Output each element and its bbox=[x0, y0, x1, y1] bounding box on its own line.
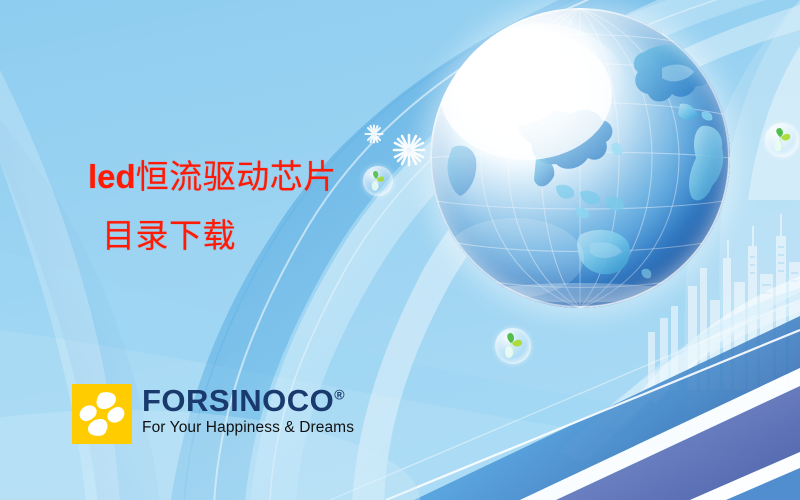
headline-text: led恒流驱动芯片 目录下载 bbox=[88, 160, 418, 254]
logo-mark-box bbox=[72, 384, 132, 444]
earth-globe bbox=[430, 8, 730, 308]
green-sprout-icon bbox=[765, 123, 799, 157]
logo-tagline: For Your Happiness & Dreams bbox=[142, 420, 354, 436]
bubble-sprout-mid bbox=[495, 328, 531, 364]
registered-trademark-icon: ® bbox=[334, 387, 345, 403]
logo-wordmark-text: FORSINOCO bbox=[142, 383, 334, 418]
green-sprout-icon bbox=[495, 328, 531, 364]
headline-line-2: 目录下载 bbox=[88, 221, 418, 254]
company-logo[interactable]: FORSINOCO® For Your Happiness & Dreams bbox=[72, 384, 354, 444]
four-petal-flower-icon bbox=[72, 384, 132, 444]
logo-text-block: FORSINOCO® For Your Happiness & Dreams bbox=[142, 384, 354, 436]
promotional-banner: led恒流驱动芯片 目录下载 FORSINOCO® For Your Happ bbox=[0, 0, 800, 500]
globe-surface bbox=[430, 8, 730, 308]
logo-wordmark: FORSINOCO® bbox=[142, 385, 354, 416]
headline-cjk-line-1: 恒流驱动芯片 bbox=[136, 160, 337, 196]
headline-line-1: led恒流驱动芯片 bbox=[88, 160, 418, 195]
bubble-sprout-right bbox=[765, 123, 799, 157]
headline-latin-led: led bbox=[88, 158, 136, 195]
